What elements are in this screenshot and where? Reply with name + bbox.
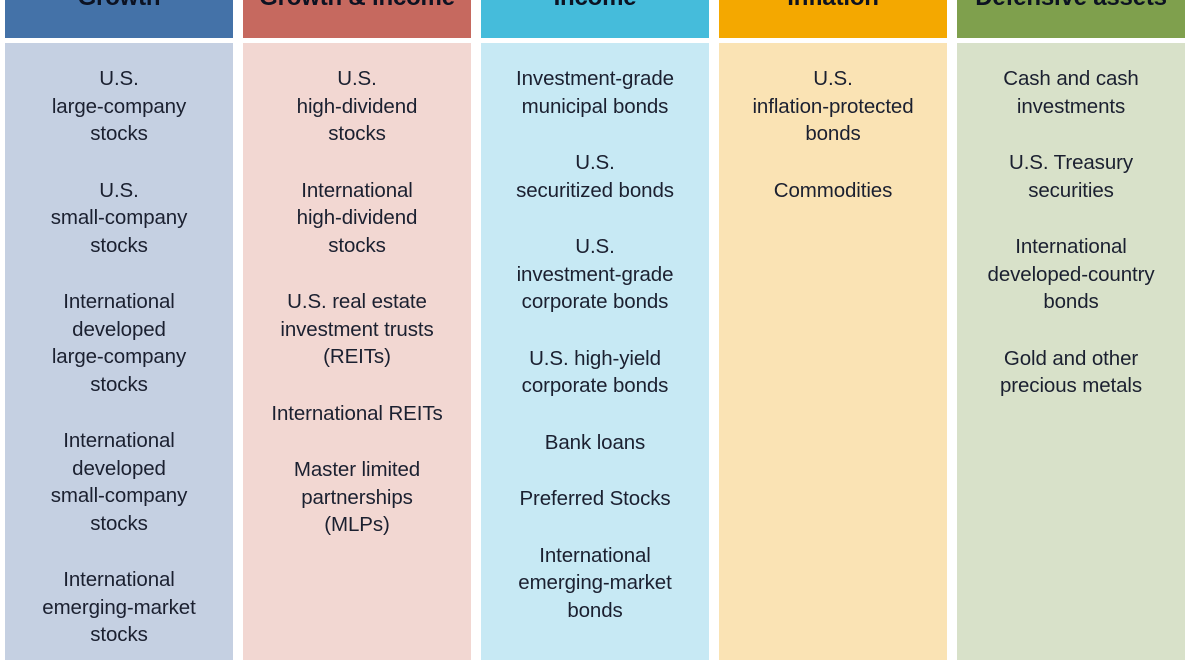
asset-class-item: International REITs xyxy=(253,400,461,428)
category-body: Investment-grademunicipal bondsU.S.secur… xyxy=(481,43,709,660)
category-column: InflationU.S.inflation-protectedbondsCom… xyxy=(719,0,947,660)
category-header: Inflation xyxy=(719,0,947,38)
category-column: IncomeInvestment-grademunicipal bondsU.S… xyxy=(481,0,709,660)
asset-class-item: Commodities xyxy=(729,177,937,205)
asset-class-item: Internationalhigh-dividendstocks xyxy=(253,177,461,260)
category-header-label: Inflation xyxy=(719,0,947,13)
asset-class-item: Internationaldevelopedlarge-companystock… xyxy=(15,288,223,398)
asset-class-item: Master limitedpartnerships(MLPs) xyxy=(253,456,461,539)
category-header: Growth xyxy=(5,0,233,38)
category-header: Income xyxy=(481,0,709,38)
asset-class-category-board: GrowthU.S.large-companystocksU.S.small-c… xyxy=(0,0,1190,660)
category-body: U.S.large-companystocksU.S.small-company… xyxy=(5,43,233,660)
asset-class-item: Internationaldeveloped-countrybonds xyxy=(967,233,1175,316)
asset-class-item: Preferred Stocks xyxy=(491,485,699,513)
category-body: Cash and cashinvestmentsU.S. Treasurysec… xyxy=(957,43,1185,660)
asset-class-item: U.S. high-yieldcorporate bonds xyxy=(491,345,699,400)
asset-class-item: U.S.securitized bonds xyxy=(491,149,699,204)
category-header-label: Growth & income xyxy=(243,0,471,13)
category-header: Growth & income xyxy=(243,0,471,38)
asset-class-item: U.S. real estateinvestment trusts(REITs) xyxy=(253,288,461,371)
category-body: U.S.inflation-protectedbondsCommodities xyxy=(719,43,947,660)
asset-class-item: U.S. Treasurysecurities xyxy=(967,149,1175,204)
category-body: U.S.high-dividendstocksInternationalhigh… xyxy=(243,43,471,660)
category-header-label: Defensive assets xyxy=(957,0,1185,13)
asset-class-item: U.S.small-companystocks xyxy=(15,177,223,260)
asset-class-item: U.S.inflation-protectedbonds xyxy=(729,65,937,148)
asset-class-item: Cash and cashinvestments xyxy=(967,65,1175,120)
asset-class-item: Gold and otherprecious metals xyxy=(967,345,1175,400)
asset-class-item: U.S.high-dividendstocks xyxy=(253,65,461,148)
category-column: GrowthU.S.large-companystocksU.S.small-c… xyxy=(5,0,233,660)
category-header-label: Income xyxy=(481,0,709,13)
category-header-label: Growth xyxy=(5,0,233,13)
asset-class-item: Internationalemerging-marketbonds xyxy=(491,542,699,625)
asset-class-item: Bank loans xyxy=(491,429,699,457)
category-column: Growth & incomeU.S.high-dividendstocksIn… xyxy=(243,0,471,660)
category-header: Defensive assets xyxy=(957,0,1185,38)
asset-class-item: Investment-grademunicipal bonds xyxy=(491,65,699,120)
category-column: Defensive assetsCash and cashinvestments… xyxy=(957,0,1185,660)
asset-class-item: Internationalemerging-marketstocks xyxy=(15,566,223,649)
asset-class-item: U.S.large-companystocks xyxy=(15,65,223,148)
asset-class-item: Internationaldevelopedsmall-companystock… xyxy=(15,427,223,537)
asset-class-item: U.S.investment-gradecorporate bonds xyxy=(491,233,699,316)
